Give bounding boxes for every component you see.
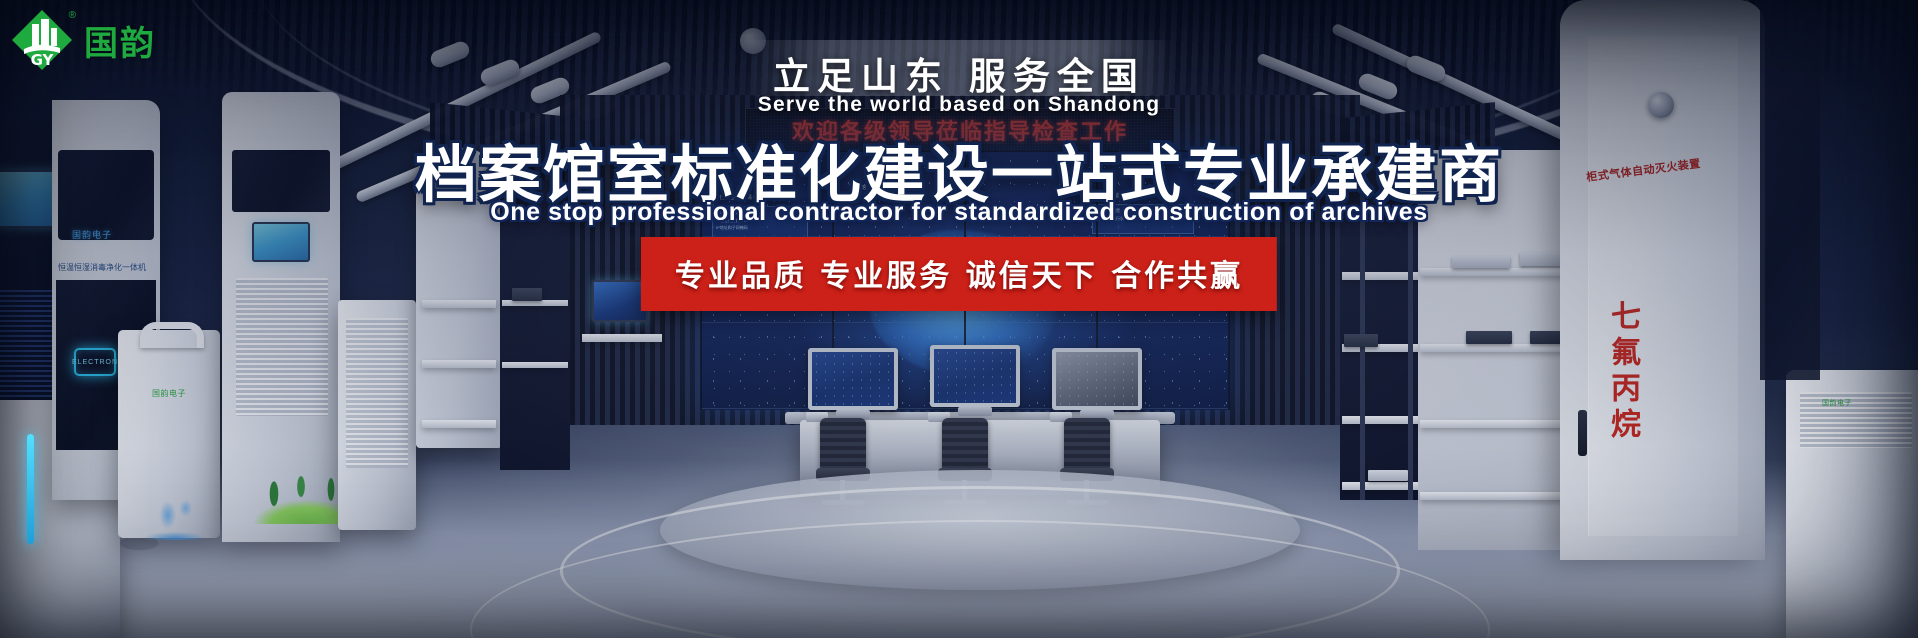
shelf-board	[422, 420, 496, 428]
archive-box	[1368, 470, 1408, 481]
shelf-board	[422, 360, 496, 368]
side-cabinet-vent	[346, 318, 408, 468]
shelf-board	[422, 300, 496, 308]
slogan-banner: 专业品质 专业服务 诚信天下 合作共赢	[641, 237, 1277, 311]
right-ac-brand-label: 国韵电子	[1822, 398, 1852, 408]
wall-mounted-display	[592, 280, 648, 322]
cabinet-door-handle	[1578, 410, 1587, 456]
archive-box	[1452, 256, 1510, 268]
dehumidifier-brand-label: 国韵电子	[152, 388, 186, 399]
logo-wordmark: 国韵	[84, 16, 156, 65]
registered-trademark-icon: ®	[69, 10, 76, 21]
main-title-en: One stop professional contractor for sta…	[0, 198, 1918, 227]
ac-touch-display	[252, 222, 310, 262]
dehumidifier-handle	[140, 322, 204, 348]
monitor-stand	[958, 407, 992, 416]
svg-text:GY: GY	[31, 51, 55, 69]
workstation-monitor	[930, 345, 1020, 407]
right-ac-vent	[1800, 392, 1912, 448]
wall-shelf	[582, 334, 662, 342]
shelf-board	[1420, 268, 1566, 276]
fire-cabinet-vertical-label: 七氟丙烷	[1600, 300, 1644, 444]
equipment-brand-label: 国韵电子	[72, 228, 112, 241]
chair-back	[1064, 418, 1110, 470]
headline-top: 立足山东 服务全国	[0, 46, 1918, 100]
workstation-monitor	[808, 348, 898, 410]
shelf-board	[1420, 492, 1566, 500]
archive-box	[1466, 331, 1512, 344]
archive-box	[512, 288, 542, 301]
accent-light-bar	[27, 434, 34, 544]
archive-box	[1344, 334, 1378, 347]
hero-banner: 欢迎各级领导莅临指导检查工作 单位安全防护清单 IP地址和子网掩码 IP地址网关…	[0, 0, 1918, 638]
neon-logo-box: ELECTRON	[74, 348, 116, 376]
chair-back	[942, 418, 988, 470]
workstation-monitor	[1052, 348, 1142, 410]
site-logo[interactable]: GY ® 国韵	[10, 8, 156, 72]
logo-diamond-icon: GY ®	[10, 8, 74, 72]
chair-back	[820, 418, 866, 470]
headline-subtitle-en: Serve the world based on Shandong	[0, 93, 1918, 117]
slogan-text: 专业品质 专业服务 诚信天下 合作共赢	[675, 259, 1243, 294]
shelf-board	[502, 362, 568, 368]
shelf-board	[1420, 344, 1566, 352]
equipment-product-label: 恒温恒湿消毒净化一体机	[58, 262, 146, 273]
ac-vent-grille	[236, 278, 328, 416]
decorative-horse-graphic	[130, 492, 220, 540]
shelf-board	[1420, 420, 1566, 428]
